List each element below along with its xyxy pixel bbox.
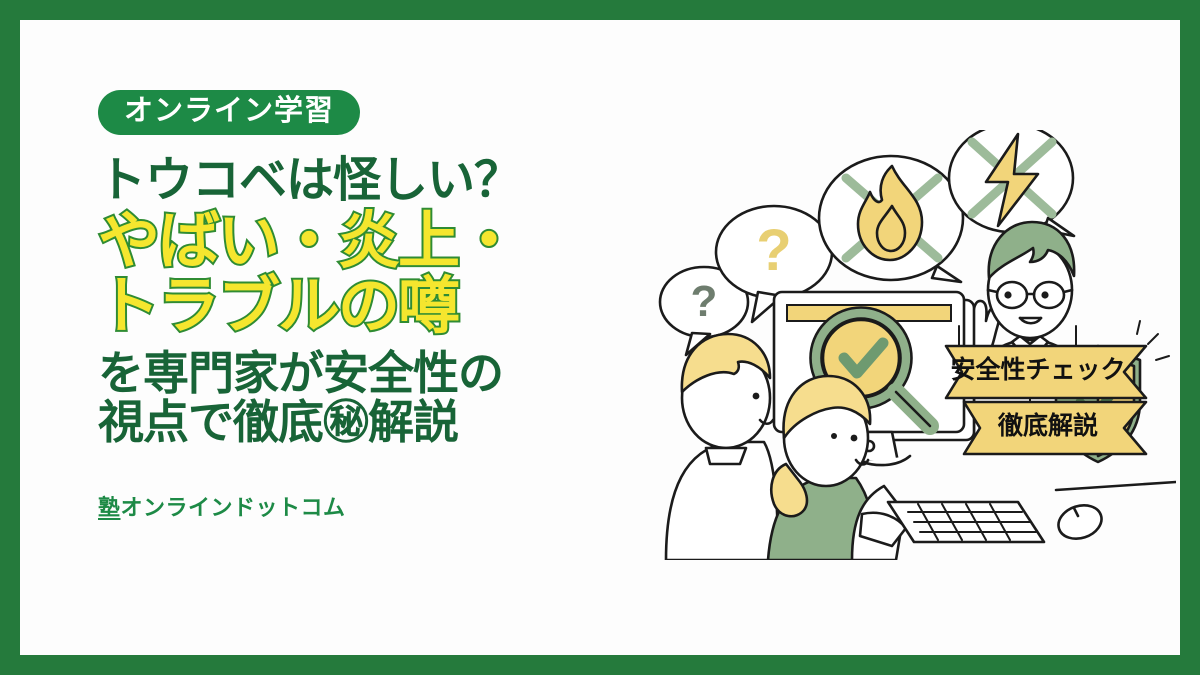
svg-text:?: ? (756, 218, 791, 283)
bubble-fire-crossed (819, 156, 963, 282)
ribbon-bottom-label: 徹底解説 (997, 411, 1098, 440)
ribbon-bottom: 徹底解説 (964, 402, 1146, 454)
sparkle-lines (1137, 321, 1169, 360)
inner-white-panel: オンライン学習 トウコベは怪しい？ やばい・炎上・ トラブルの噂 を専門家が安全… (20, 20, 1180, 655)
site-name: 塾オンラインドットコム (98, 490, 618, 522)
desk-edge (1056, 482, 1176, 490)
site-name-underlined-part: 塾 (98, 495, 121, 520)
category-badge: オンライン学習 (98, 90, 360, 135)
boy-student-figure (666, 334, 778, 560)
mouse (1054, 500, 1106, 544)
illustration: .ol{fill:none;stroke:#1b1b1b;stroke-widt… (656, 130, 1176, 560)
headline-line-1: トウコベは怪しい？ (98, 157, 618, 206)
bubble-lightning-crossed (949, 130, 1074, 236)
thumbnail-canvas: オンライン学習 トウコベは怪しい？ やばい・炎上・ トラブルの噂 を専門家が安全… (0, 0, 1200, 675)
headline-line-2-highlight: やばい・炎上・ (98, 210, 618, 273)
text-column: オンライン学習 トウコベは怪しい？ やばい・炎上・ トラブルの噂 を専門家が安全… (98, 90, 618, 650)
keyboard (888, 502, 1044, 542)
headline-line-5: 視点で徹底㊙解説 (98, 399, 618, 446)
headline-block: トウコベは怪しい？ やばい・炎上・ トラブルの噂 を専門家が安全性の 視点で徹底… (98, 157, 618, 446)
site-name-rest: オンラインドットコム (121, 495, 346, 520)
headline-line-3-highlight: トラブルの噂 (98, 275, 618, 338)
headline-line-4: を専門家が安全性の (98, 350, 618, 397)
ribbon-top-label: 安全性チェック (950, 355, 1125, 384)
svg-text:?: ? (691, 277, 718, 326)
